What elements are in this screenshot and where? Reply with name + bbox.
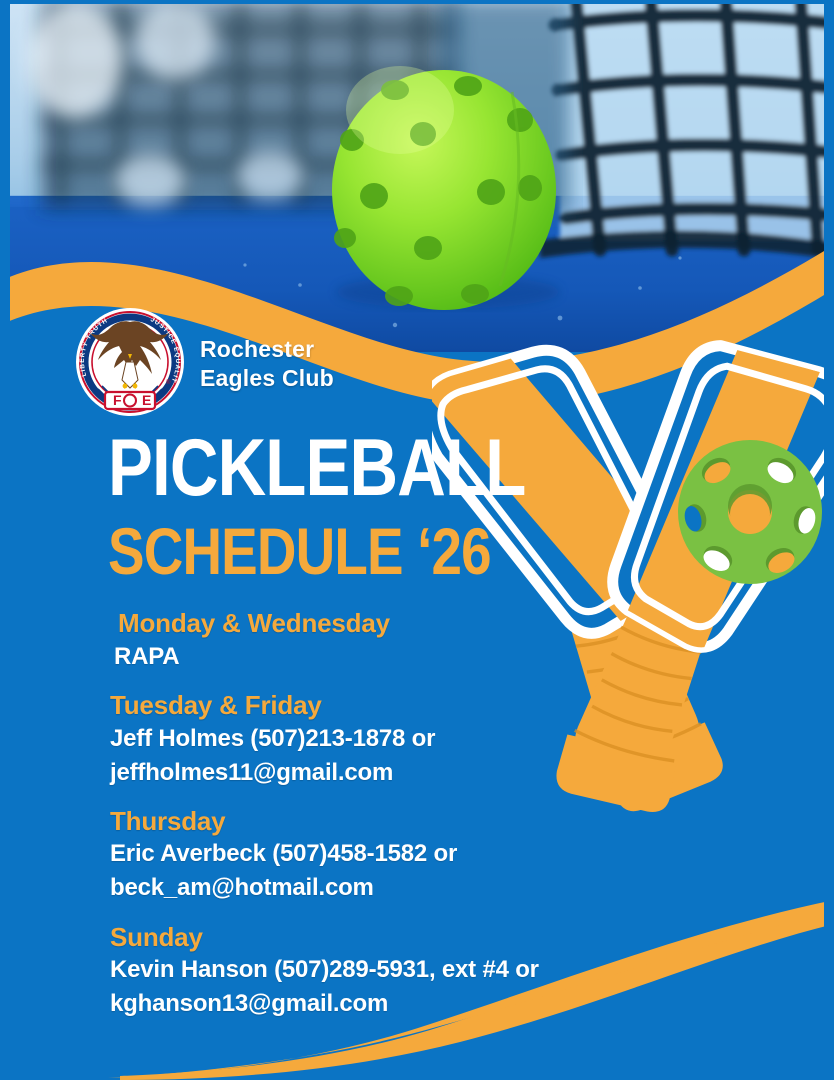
schedule-entry: Tuesday & Friday Jeff Holmes (507)213-18… [110,690,690,790]
header-photo [0,0,834,352]
contact-line: Jeff Holmes (507)213-1878 or [110,722,690,756]
schedule-entry: Monday & Wednesday RAPA [110,608,690,674]
header-photo-illustration [0,0,834,352]
schedule-list: Monday & Wednesday RAPA Tuesday & Friday… [110,608,690,1021]
svg-text:E: E [142,392,151,408]
contact-line: Eric Averbeck (507)458-1582 or [110,837,690,871]
schedule-contact: Jeff Holmes (507)213-1878 or jeffholmes1… [110,722,690,790]
headline-block: PICKLEBALL SCHEDULE ‘26 [108,430,611,583]
schedule-entry: Sunday Kevin Hanson (507)289-5931, ext #… [110,922,690,1022]
contact-email[interactable]: jeffholmes11@gmail.com [110,756,690,790]
club-name: Rochester Eagles Club [200,331,334,393]
flyer-canvas: LIBERTY TRUTH JUSTICE EQUALITY [0,0,834,1080]
schedule-day-label: Tuesday & Friday [110,690,690,722]
pickleball-ball-graphic [678,440,822,584]
contact-line: Kevin Hanson (507)289-5931, ext #4 or [110,953,690,987]
schedule-day-label: Monday & Wednesday [110,608,690,640]
schedule-entry: Thursday Eric Averbeck (507)458-1582 or … [110,806,690,906]
schedule-day-label: Sunday [110,922,690,954]
schedule-contact: Eric Averbeck (507)458-1582 or beck_am@h… [110,837,690,905]
page-subtitle: SCHEDULE ‘26 [108,520,525,583]
contact-email[interactable]: beck_am@hotmail.com [110,871,690,905]
contact-email[interactable]: kghanson13@gmail.com [110,987,690,1021]
schedule-contact: Kevin Hanson (507)289-5931, ext #4 or kg… [110,953,690,1021]
schedule-day-label: Thursday [110,806,690,838]
foe-letters: F E [105,392,155,409]
svg-text:®: ® [166,379,171,386]
schedule-contact: RAPA [110,640,690,674]
club-identity: LIBERTY TRUTH JUSTICE EQUALITY [74,306,334,418]
page-title: PICKLEBALL [108,430,525,508]
contact-line: RAPA [114,640,690,674]
svg-text:F: F [113,392,122,408]
foe-eagle-emblem-icon: LIBERTY TRUTH JUSTICE EQUALITY [74,306,186,418]
